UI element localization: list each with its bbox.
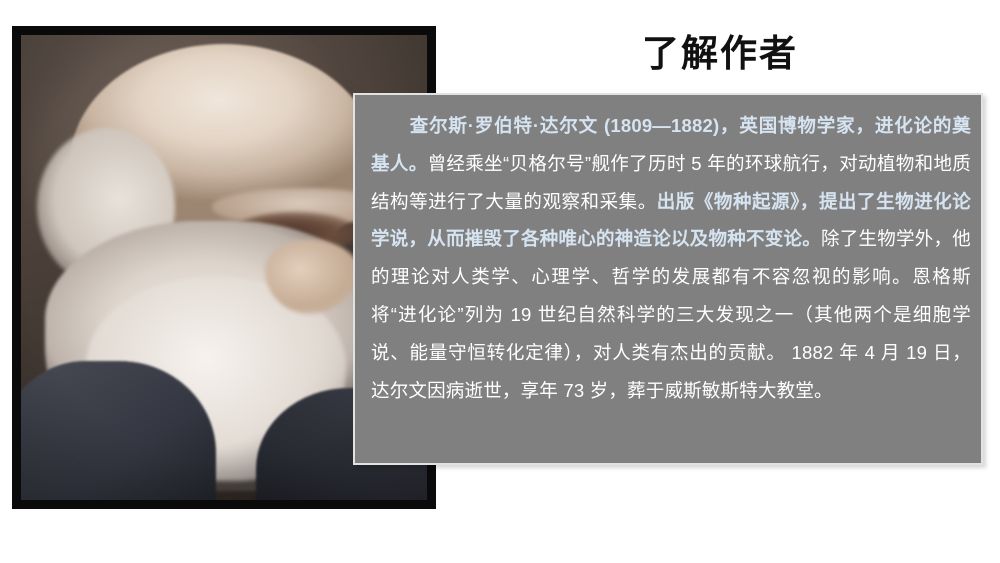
biography-text: 查尔斯·罗伯特·达尔文 (1809—1882)，英国博物学家，进化论的奠基人。曾… [371,107,971,409]
biography-run: 除了生物学外，他的理论对人类学、心理学、哲学的发展都有不容忽视的影响。恩格斯将“… [371,228,971,400]
page-title: 了解作者 [440,34,1000,75]
biography-panel: 查尔斯·罗伯特·达尔文 (1809—1882)，英国博物学家，进化论的奠基人。曾… [353,93,983,465]
slide-canvas: 了解作者 查尔斯·罗伯特·达尔文 (1809—1882)，英国博物学家，进化论的… [0,0,1000,563]
biography-run [371,115,410,136]
